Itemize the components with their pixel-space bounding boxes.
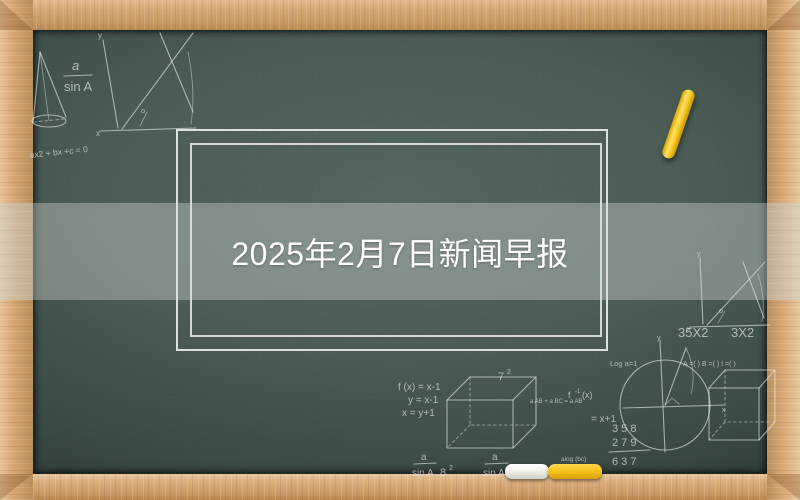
page-title: 2025年2月7日新闻早报 bbox=[0, 203, 800, 300]
frame-bottom-ledge bbox=[0, 474, 800, 500]
frame-top bbox=[0, 0, 800, 30]
chalk-stick-white bbox=[505, 464, 549, 479]
chalk-stick-yellow bbox=[548, 464, 602, 479]
chalkboard-title-card: a sin A ax2 + bx +c = 0 y x o y x bbox=[0, 0, 800, 500]
